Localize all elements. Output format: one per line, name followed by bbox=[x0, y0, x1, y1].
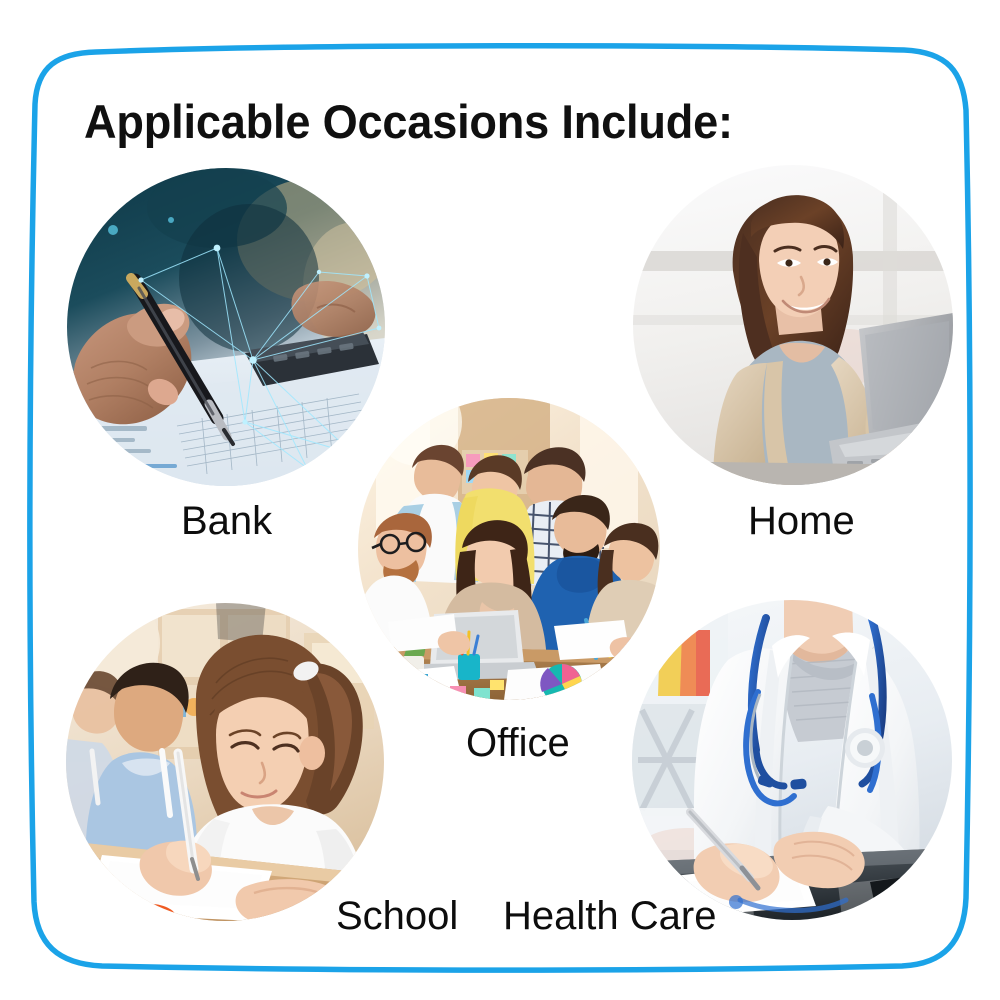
occasion-image-healthcare bbox=[632, 600, 952, 920]
promo-banner: Applicable Occasions Include: bbox=[0, 0, 1000, 1000]
occasion-label-office: Office bbox=[466, 721, 570, 765]
occasion-image-bank bbox=[67, 168, 385, 486]
occasion-label-home: Home bbox=[748, 499, 855, 543]
occasion-label-school: School bbox=[336, 894, 458, 938]
occasion-image-home bbox=[633, 165, 953, 485]
occasion-image-school bbox=[66, 603, 384, 921]
occasion-label-healthcare: Health Care bbox=[503, 894, 716, 938]
occasion-label-bank: Bank bbox=[181, 499, 272, 543]
page-title: Applicable Occasions Include: bbox=[84, 96, 733, 148]
occasion-image-office bbox=[358, 398, 660, 700]
